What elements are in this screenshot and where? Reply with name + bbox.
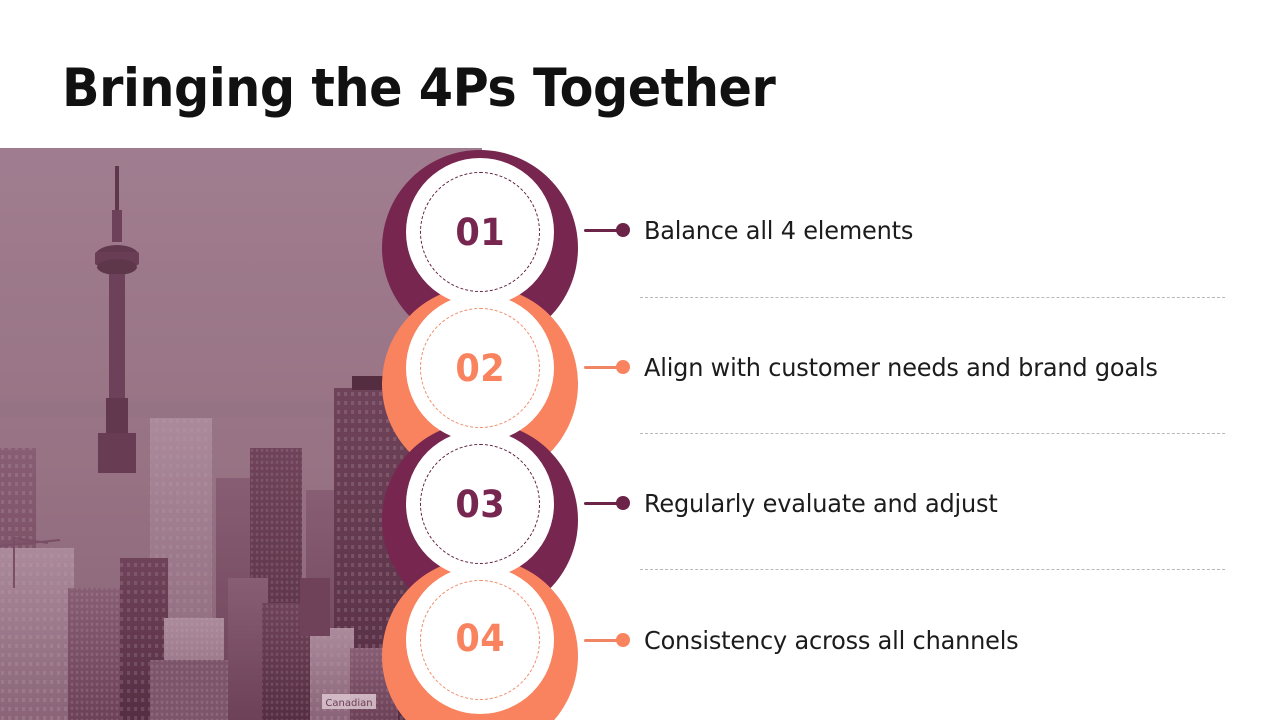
step-circle-03[interactable]: 03 [406, 430, 554, 578]
step-text-04: Consistency across all channels [644, 626, 1019, 655]
slide-canvas: Bringing the 4Ps Together [0, 0, 1280, 720]
row-divider-3 [640, 569, 1225, 570]
step-circle-01[interactable]: 01 [406, 158, 554, 306]
step-number-03: 03 [455, 483, 505, 526]
connector-line-02 [584, 360, 630, 374]
connector-line-03 [584, 496, 630, 510]
row-divider-2 [640, 433, 1225, 434]
connector-line-01 [584, 223, 630, 237]
step-number-02: 02 [455, 347, 505, 390]
connector-line-04 [584, 633, 630, 647]
step-row-02[interactable]: Align with customer needs and brand goal… [584, 347, 1179, 387]
step-text-03: Regularly evaluate and adjust [644, 489, 998, 518]
step-row-01[interactable]: Balance all 4 elements [584, 210, 924, 250]
page-title: Bringing the 4Ps Together [62, 58, 775, 119]
step-circle-02[interactable]: 02 [406, 294, 554, 442]
step-row-03[interactable]: Regularly evaluate and adjust [584, 483, 1012, 523]
step-text-01: Balance all 4 elements [644, 216, 913, 245]
step-number-01: 01 [455, 211, 505, 254]
step-row-04[interactable]: Consistency across all channels [584, 620, 1034, 660]
step-number-04: 04 [455, 617, 505, 660]
row-divider-1 [640, 297, 1225, 298]
step-circle-04[interactable]: 04 [406, 566, 554, 714]
step-text-02: Align with customer needs and brand goal… [644, 353, 1158, 382]
